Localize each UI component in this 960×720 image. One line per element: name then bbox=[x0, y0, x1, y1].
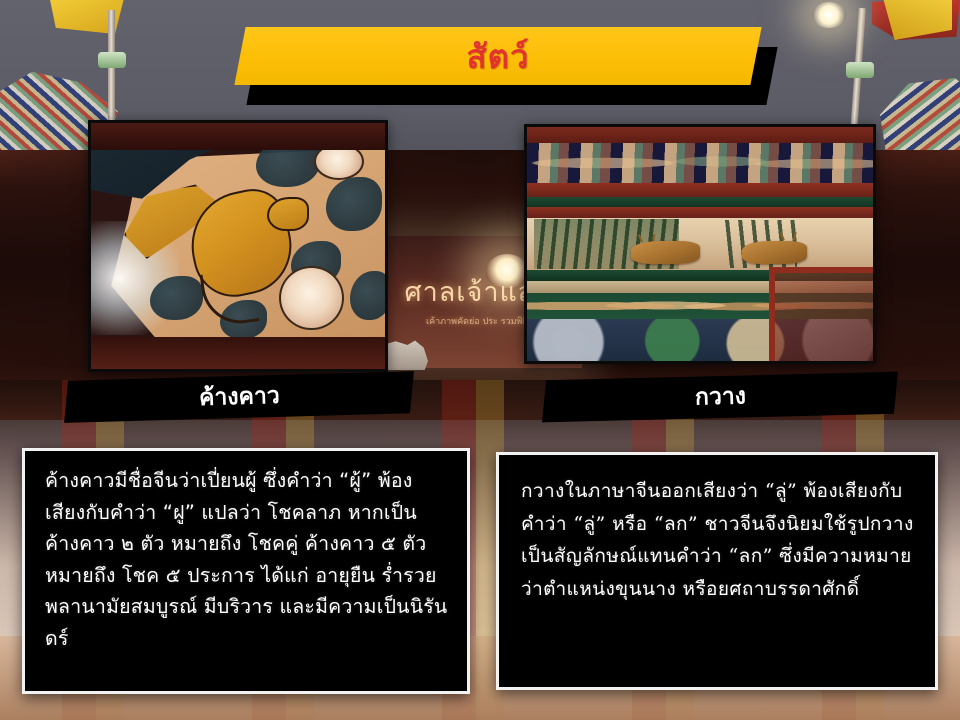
caption-label-bat: ค้างคาว bbox=[198, 378, 280, 416]
deer-figure-icon bbox=[631, 241, 700, 264]
text-panel-bat: ค้างคาวมีชื่อจีนว่าเปี่ยนผู้ ซึ่งคำว่า “… bbox=[22, 448, 470, 694]
ceiling-light-icon bbox=[486, 254, 528, 288]
flag-knot-left-icon bbox=[98, 52, 126, 68]
photo-deer bbox=[524, 124, 876, 364]
beam-band-deer-scene bbox=[527, 218, 873, 269]
text-panel-bat-body: ค้างคาวมีชื่อจีนว่าเปี่ยนผู้ ซึ่งคำว่า “… bbox=[45, 465, 449, 654]
beam-red-corner-molding bbox=[769, 267, 873, 361]
bat-head-icon bbox=[267, 197, 308, 231]
deer-figure-icon bbox=[742, 241, 808, 264]
beam-band-red bbox=[527, 183, 873, 197]
beam-band-red-2 bbox=[527, 207, 873, 219]
photo-bat bbox=[88, 120, 388, 372]
ceiling-light-upper-icon bbox=[812, 2, 846, 28]
bat-mural-image bbox=[91, 123, 385, 369]
peony-flower-icon bbox=[279, 266, 344, 330]
caption-label-deer: กวาง bbox=[694, 378, 746, 415]
flag-knot-right-icon bbox=[846, 62, 874, 78]
text-panel-deer-body: กวางในภาษาจีนออกเสียงว่า “ลู่” พ้องเสียง… bbox=[521, 475, 919, 606]
page-title: สัตว์ bbox=[240, 27, 756, 85]
beam-band-scrollwork bbox=[527, 143, 873, 183]
slide-canvas: ศาลเจ้าแสง เค้าภาพคัดย่อ ประ รวมพิธี สัต… bbox=[0, 0, 960, 720]
beam-band-red-top bbox=[527, 127, 873, 143]
mural-frame-top bbox=[91, 123, 385, 150]
mural-frame-bottom bbox=[91, 337, 385, 369]
text-panel-deer: กวางในภาษาจีนออกเสียงว่า “ลู่” พ้องเสียง… bbox=[496, 452, 938, 690]
caption-banner-deer: กวาง bbox=[542, 372, 898, 423]
cloud-motif-icon bbox=[326, 177, 382, 231]
beam-band-green bbox=[527, 197, 873, 206]
deer-beam-image bbox=[527, 127, 873, 361]
